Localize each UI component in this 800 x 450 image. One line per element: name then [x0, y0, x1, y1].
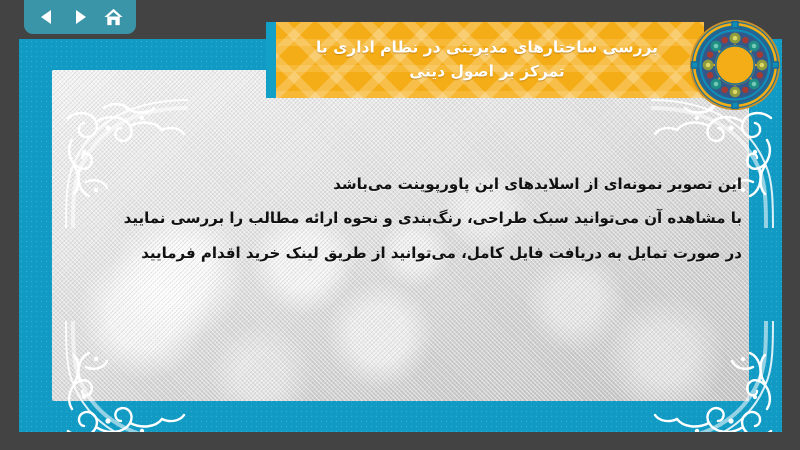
banner-accent-bar [266, 22, 276, 98]
navigation-bar [24, 0, 136, 34]
page-title: بررسی ساختارهای مدیریتی در نظام اداری با… [292, 36, 682, 83]
slide-title-banner: بررسی ساختارهای مدیریتی در نظام اداری با… [266, 22, 704, 98]
body-line-3: در صورت تمایل به دریافت فایل کامل، می‌تو… [79, 240, 742, 267]
forward-button[interactable] [68, 5, 92, 29]
title-line-2: تمرکز بر اصول دینی [292, 60, 682, 84]
body-line-1: این تصویر نمونه‌ای از اسلایدهای این پاور… [79, 171, 742, 198]
triangle-left-icon [37, 7, 57, 27]
triangle-right-icon [70, 7, 90, 27]
title-line-1: بررسی ساختارهای مدیریتی در نظام اداری با [292, 36, 682, 60]
slide-body-text: این تصویر نمونه‌ای از اسلایدهای این پاور… [79, 171, 742, 274]
house-icon [103, 7, 124, 28]
home-button[interactable] [101, 5, 125, 29]
back-button[interactable] [35, 5, 59, 29]
body-line-2: با مشاهده آن می‌توانید سبک طراحی، رنگ‌بن… [79, 205, 742, 232]
persian-medallion-ornament [687, 17, 783, 113]
